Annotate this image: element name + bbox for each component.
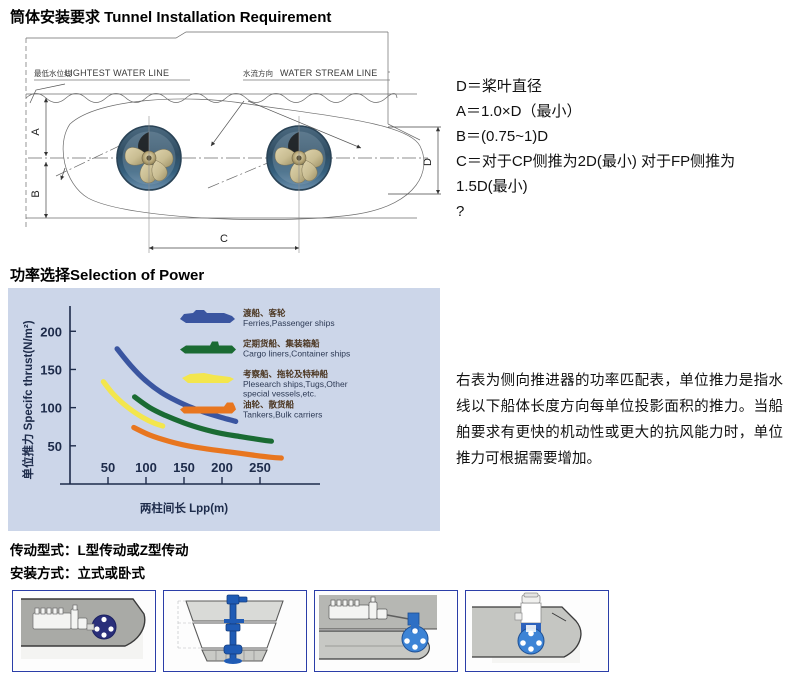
photo-vertical-retractable-thruster[interactable] [465,590,609,672]
y-tick-label: 100 [40,401,62,416]
y-tick-label: 50 [48,439,62,454]
legend-label-cn: 定期货船、集装箱船 [242,339,320,349]
svg-text:A: A [30,128,42,136]
svg-text:B: B [30,190,42,197]
page-title-selection-of-power: 功率选择Selection of Power [10,264,204,285]
y-tick-label: 200 [40,324,62,339]
photo-horizontal-l-drive-bow-thruster[interactable] [12,590,156,672]
x-tick-label: 200 [211,460,233,475]
tunnel-installation-diagram: 最低水位线 LIGHTEST WATER LINE 水流方向 WATER STR… [8,28,448,260]
x-axis-title: 两柱间长 Lpp(m) [140,501,228,515]
formula-line-d: D＝桨叶直径 [456,74,786,99]
svg-text:LIGHTEST WATER LINE: LIGHTEST WATER LINE [65,68,169,78]
x-tick-label: 250 [249,460,271,475]
legend-label-en: Cargo liners,Container ships [243,349,350,359]
svg-text:水流方向: 水流方向 [243,68,273,78]
spec-drive-type: 传动型式：L型传动或Z型传动 [10,539,189,559]
legend-label-cn: 考察船、拖轮及特种船 [243,369,329,379]
legend-label-cn: 油轮、散货船 [243,400,295,410]
chart-description-paragraph: 右表为侧向推进器的功率匹配表，单位推力是指水线以下船体长度方向每单位投影面积的推… [456,368,783,472]
page-title-tunnel-installation: 筒体安装要求 Tunnel Installation Requirement [10,6,331,27]
legend-ship-icon [180,342,236,354]
chart-legend-item: 渡船、客轮Ferries,Passenger ships [180,308,335,328]
legend-label-en: Ferries,Passenger ships [243,318,335,328]
spec-mounting-type: 安装方式：立式或卧式 [10,562,145,582]
y-axis-title: 单位推力 Specifc thrust(N/m²) [21,320,35,479]
legend-label-en: Tankers,Bulk carriers [243,410,322,420]
svg-text:D: D [422,158,434,166]
formula-line-c: C＝对于CP侧推为2D(最小) 对于FP侧推为1.5D(最小) [456,149,786,199]
formula-line-b: B＝(0.75~1)D [456,124,786,149]
specific-thrust-chart: 5010015020050100150200250单位推力 Specifc th… [8,288,440,531]
x-tick-label: 150 [173,460,195,475]
installation-photo-strip [12,590,778,674]
formula-line-query: ? [456,199,786,224]
chart-legend-item: 考察船、拖轮及特种船Plesearch ships,Tugs,Otherspec… [182,369,348,399]
formula-line-a: A＝1.0×D（最小） [456,99,786,124]
legend-label-en: Plesearch ships,Tugs,Other [243,379,348,389]
photo-engine-driven-z-drive-thruster[interactable] [314,590,458,672]
x-tick-label: 50 [101,460,115,475]
legend-label-cn: 渡船、客轮 [243,308,286,318]
y-tick-label: 150 [40,362,62,377]
x-tick-label: 100 [135,460,157,475]
svg-text:WATER STREAM LINE: WATER STREAM LINE [280,68,377,78]
photo-vertical-shaft-tunnel-thruster-section[interactable] [163,590,307,672]
chart-legend-item: 油轮、散货船Tankers,Bulk carriers [180,400,322,420]
legend-label-en: special vessels,etc. [243,389,316,399]
svg-text:C: C [220,233,228,245]
chart-legend-item: 定期货船、集装箱船Cargo liners,Container ships [180,339,350,359]
legend-ship-icon [180,310,235,323]
legend-ship-icon [182,373,234,383]
installation-formula-list: D＝桨叶直径 A＝1.0×D（最小） B＝(0.75~1)D C＝对于CP侧推为… [456,74,786,224]
